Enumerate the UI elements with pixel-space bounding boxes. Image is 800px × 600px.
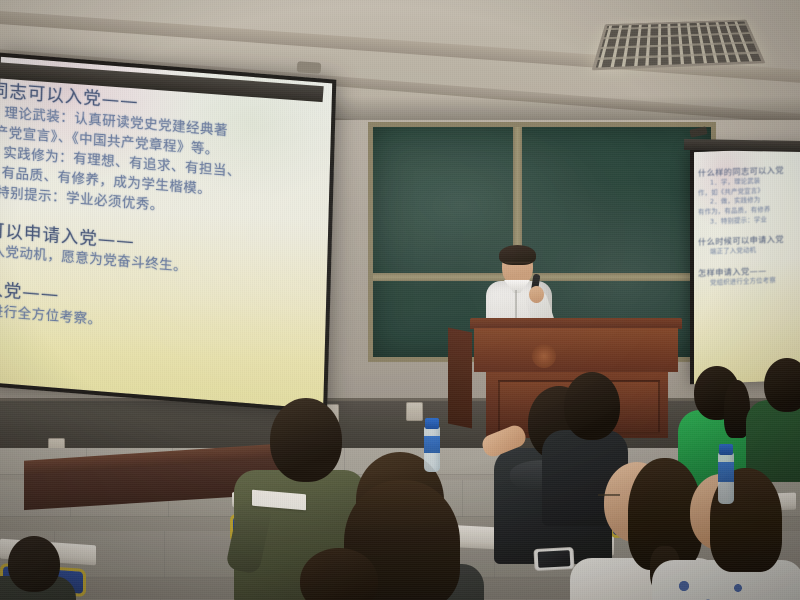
right-slide-text: 什么样的同志可以入党1．学，理论武装作，如《共产党宣言》2．做，实践修为有作为，… <box>698 160 800 288</box>
bottle-label <box>424 436 440 453</box>
lectern-emblem-icon <box>532 344 556 368</box>
eyeglasses-icon <box>598 494 620 502</box>
bottle-cap-icon <box>719 444 733 455</box>
right-projection-screen: 什么样的同志可以入党1．学，理论武装作，如《共产党宣言》2．做，实践修为有作为，… <box>690 146 800 385</box>
light-louver <box>598 51 758 60</box>
wall-outlet <box>406 402 423 421</box>
left-projection-screen: 样的同志可以入党——1、学，理论武装：认真研读党史党建经典著口《共产党宣言》、《… <box>0 52 336 413</box>
student-head <box>764 358 800 412</box>
ceiling-light-icon <box>592 20 766 71</box>
projection-screen-mount <box>297 61 322 74</box>
light-louver <box>604 32 750 39</box>
phone-screen <box>538 550 571 568</box>
floral-print <box>668 570 786 600</box>
eyeglasses-icon <box>505 262 530 269</box>
blackboard-divider-horizontal <box>373 273 711 281</box>
lecture-hall-photo: 样的同志可以入党——1、学，理论武装：认真研读党史党建经典著口《共产党宣言》、《… <box>0 0 800 600</box>
student-head <box>8 536 60 592</box>
lectern-front-panel <box>474 328 678 372</box>
student-head <box>270 398 342 482</box>
light-louver <box>601 41 754 49</box>
presenter-hand <box>529 286 544 303</box>
bottle-label <box>718 462 734 482</box>
bottle-cap-icon <box>425 418 439 429</box>
lectern-side <box>448 327 472 428</box>
smartphone <box>533 547 574 571</box>
student-head <box>564 372 620 440</box>
projection-screen-roller <box>684 139 800 152</box>
left-slide-text: 样的同志可以入党——1、学，理论武装：认真研读党史党建经典著口《共产党宣言》、《… <box>0 77 336 351</box>
light-louver <box>606 24 746 31</box>
